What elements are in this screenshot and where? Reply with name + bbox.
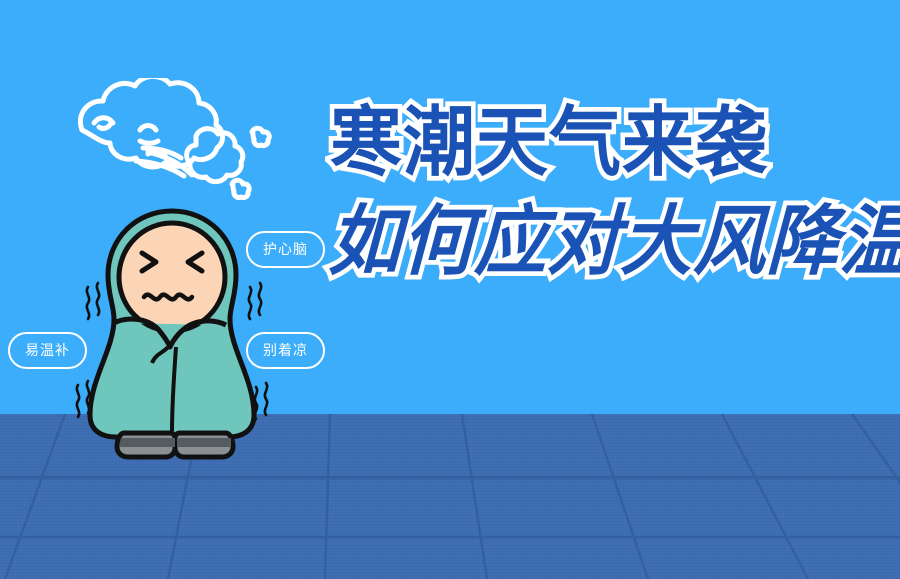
blowing-wind-cloud-icon [36, 78, 304, 210]
face [119, 223, 225, 331]
headline-line-2: 如何应对大风降温 [327, 203, 890, 282]
shoes [117, 433, 233, 457]
headline-block: 寒潮天气来袭 如何应对大风降温 [330, 104, 890, 278]
tag-biezhaoliang[interactable]: 别着凉 [246, 332, 325, 369]
wavy-mouth-icon [144, 295, 192, 300]
headline-line-1: 寒潮天气来袭 [330, 104, 890, 183]
tag-huxinnao[interactable]: 护心脑 [246, 231, 325, 268]
poster-canvas: 护心脑 易温补 别着凉 寒潮天气来袭 如何应对大风降温 [0, 0, 900, 579]
tag-yiwenbu[interactable]: 易温补 [8, 332, 87, 369]
